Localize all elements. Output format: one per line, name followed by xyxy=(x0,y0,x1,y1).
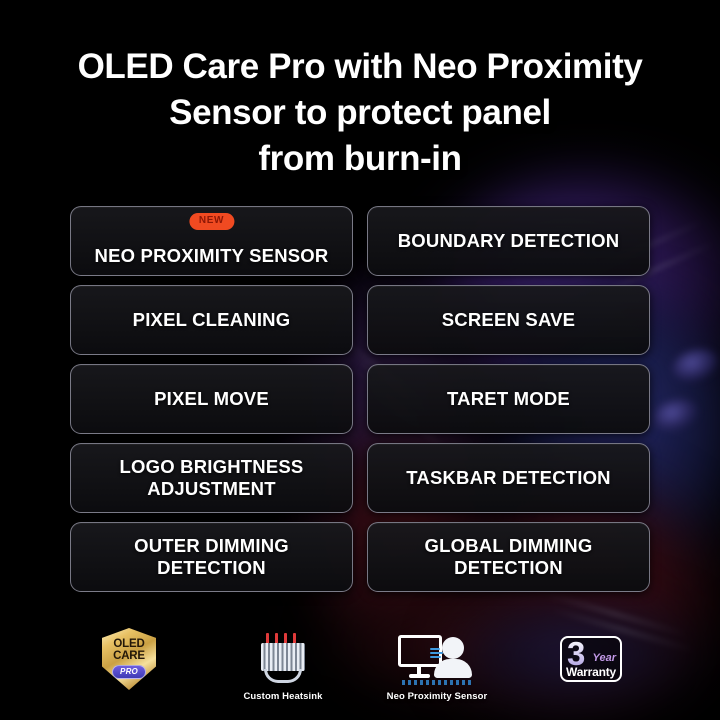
feature-card[interactable]: OUTER DIMMINGDETECTION xyxy=(70,522,353,592)
new-badge: NEW xyxy=(189,213,234,230)
feature-card[interactable]: TARET MODE xyxy=(367,364,650,434)
badge-strip: OLEDCAREPROCustom HeatsinkNeo Proximity … xyxy=(0,624,720,720)
badge-item: 3YearWarranty xyxy=(535,630,647,688)
feature-card[interactable]: PIXEL CLEANING xyxy=(70,285,353,355)
headline-line-2: Sensor to protect panel xyxy=(24,90,696,136)
headline-line-1: OLED Care Pro with Neo Proximity xyxy=(24,44,696,90)
feature-label: OUTER DIMMINGDETECTION xyxy=(134,535,289,578)
feature-card[interactable]: SCREEN SAVE xyxy=(367,285,650,355)
feature-label: TASKBAR DETECTION xyxy=(406,467,611,488)
feature-grid: NEWNEO PROXIMITY SENSORBOUNDARY DETECTIO… xyxy=(70,206,650,592)
badge-caption: Custom Heatsink xyxy=(243,691,322,702)
feature-label: PIXEL MOVE xyxy=(154,388,269,409)
feature-card[interactable]: LOGO BRIGHTNESSADJUSTMENT xyxy=(70,443,353,513)
feature-label: GLOBAL DIMMINGDETECTION xyxy=(425,535,593,578)
badge-item: Neo Proximity Sensor xyxy=(381,630,493,702)
feature-label: BOUNDARY DETECTION xyxy=(398,230,620,251)
feature-card[interactable]: PIXEL MOVE xyxy=(70,364,353,434)
feature-label: LOGO BRIGHTNESSADJUSTMENT xyxy=(120,456,304,499)
oled-care-pro-shield-icon: OLEDCAREPRO xyxy=(102,630,156,688)
neo-proximity-sensor-icon xyxy=(396,630,478,688)
page-headline: OLED Care Pro with Neo Proximity Sensor … xyxy=(0,0,720,182)
badge-caption: Neo Proximity Sensor xyxy=(387,691,488,702)
feature-label: TARET MODE xyxy=(447,388,570,409)
feature-label: PIXEL CLEANING xyxy=(133,309,291,330)
feature-card[interactable]: NEWNEO PROXIMITY SENSOR xyxy=(70,206,353,276)
badge-item: Custom Heatsink xyxy=(227,630,339,702)
heatsink-icon xyxy=(255,630,311,688)
headline-line-3: from burn-in xyxy=(24,136,696,182)
feature-card[interactable]: GLOBAL DIMMINGDETECTION xyxy=(367,522,650,592)
feature-label: SCREEN SAVE xyxy=(442,309,575,330)
feature-label: NEO PROXIMITY SENSOR xyxy=(95,245,329,266)
warranty-icon: 3YearWarranty xyxy=(560,630,622,688)
badge-item: OLEDCAREPRO xyxy=(73,630,185,688)
feature-card[interactable]: TASKBAR DETECTION xyxy=(367,443,650,513)
feature-card[interactable]: BOUNDARY DETECTION xyxy=(367,206,650,276)
